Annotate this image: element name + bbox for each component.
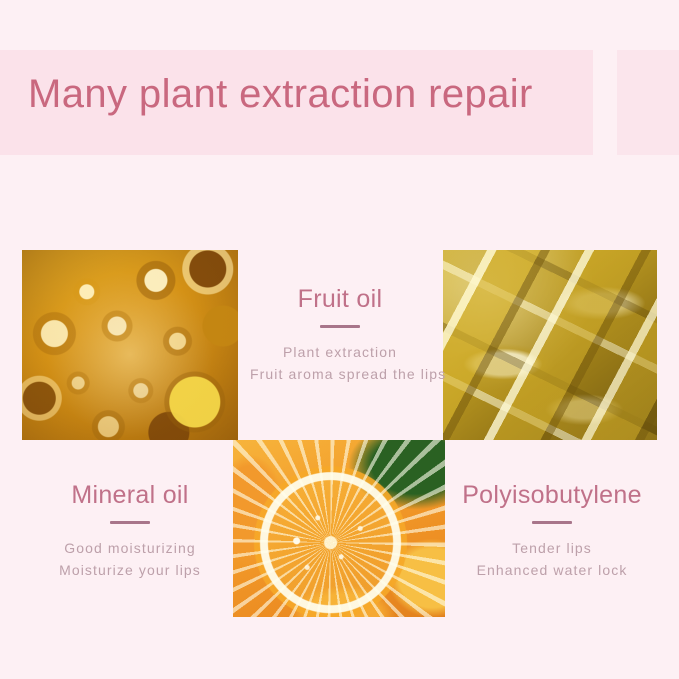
photo-softgel-capsules [443, 250, 657, 440]
ingredient-desc-line-1: Tender lips [448, 537, 656, 560]
ingredient-block-fruit-oil: Fruit oil Plant extraction Fruit aroma s… [250, 286, 430, 386]
ingredient-desc-line-2: Fruit aroma spread the lips [250, 363, 430, 386]
ingredient-block-polyisobutylene: Polyisobutylene Tender lips Enhanced wat… [448, 482, 656, 582]
heading-divider [320, 325, 360, 328]
ingredient-block-mineral-oil: Mineral oil Good moisturizing Moisturize… [32, 482, 228, 582]
photo-orange-slice [233, 440, 445, 617]
ingredient-heading: Mineral oil [32, 482, 228, 510]
ingredient-heading: Fruit oil [250, 286, 430, 314]
ingredient-desc-line-2: Enhanced water lock [448, 559, 656, 582]
heading-divider [532, 521, 572, 524]
photo-golden-oil-bubbles [22, 250, 238, 440]
ingredient-desc-line-2: Moisturize your lips [32, 559, 228, 582]
promo-banner: Many plant extraction repair Fruit oil P… [0, 0, 679, 679]
page-title: Many plant extraction repair [28, 72, 648, 117]
ingredient-desc-line-1: Good moisturizing [32, 537, 228, 560]
heading-divider [110, 521, 150, 524]
ingredient-desc-line-1: Plant extraction [250, 341, 430, 364]
ingredient-heading: Polyisobutylene [448, 482, 656, 510]
